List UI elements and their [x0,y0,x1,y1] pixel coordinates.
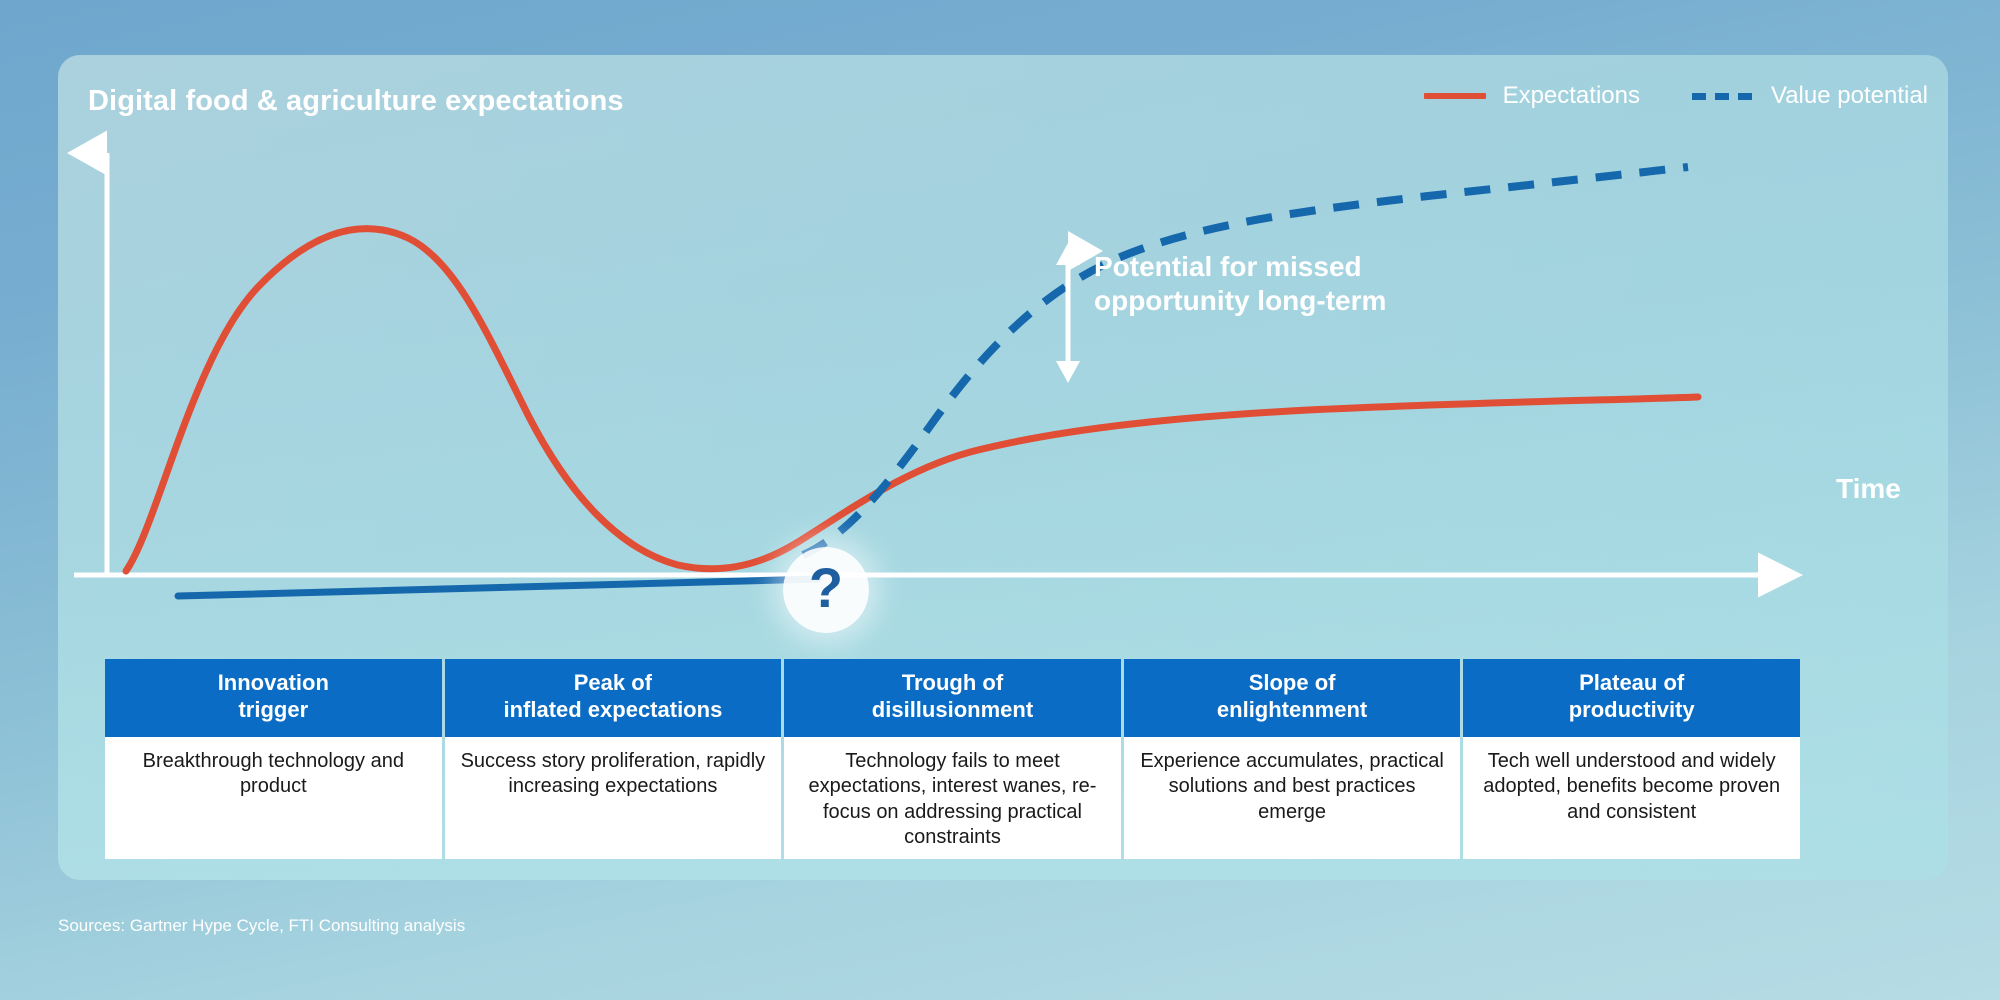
sources-footnote: Sources: Gartner Hype Cycle, FTI Consult… [58,916,465,936]
question-mark-icon: ? [809,560,843,616]
phase-title: Innovation trigger [105,659,442,737]
phase-description: Technology fails to meet expectations, i… [784,737,1121,859]
phase-title: Peak of inflated expectations [445,659,782,737]
phase-title: Plateau of productivity [1463,659,1800,737]
legend-swatch-solid-icon [1424,93,1486,99]
legend-label-expectations: Expectations [1503,82,1640,110]
annotation-missed-opportunity: Potential for missed opportunity long-te… [1094,250,1386,318]
chart-panel: Digital food & agriculture expectations … [58,55,1948,880]
gap-arrow-tip-down-icon [1056,361,1080,383]
gap-arrow-tip-up-icon [1056,243,1080,265]
axis-label-time: Time [1836,473,1901,505]
phase-title: Slope of enlightenment [1124,659,1461,737]
phase-column[interactable]: Trough of disillusionment Technology fai… [784,659,1121,859]
hype-cycle-phase-table: Innovation trigger Breakthrough technolo… [105,659,1800,859]
legend-item-expectations[interactable]: Expectations [1424,82,1640,110]
uncertainty-marker-badge[interactable]: ? [783,547,869,633]
value-potential-baseline [178,579,818,596]
phase-title: Trough of disillusionment [784,659,1121,737]
phase-column[interactable]: Plateau of productivity Tech well unders… [1463,659,1800,859]
phase-description: Experience accumulates, practical soluti… [1124,737,1461,859]
phase-description: Success story proliferation, rapidly inc… [445,737,782,859]
expectations-curve [126,229,1698,571]
phase-description: Breakthrough technology and product [105,737,442,859]
phase-column[interactable]: Innovation trigger Breakthrough technolo… [105,659,442,859]
phase-column[interactable]: Slope of enlightenment Experience accumu… [1124,659,1461,859]
value-potential-curve [803,167,1688,555]
legend-item-value-potential[interactable]: Value potential [1692,82,1928,110]
legend-swatch-dashed-icon [1692,93,1754,100]
legend-label-value-potential: Value potential [1771,82,1928,110]
chart-legend: Expectations Value potential [1424,82,1928,110]
page-title: Digital food & agriculture expectations [88,85,624,118]
phase-column[interactable]: Peak of inflated expectations Success st… [445,659,782,859]
phase-description: Tech well understood and widely adopted,… [1463,737,1800,859]
